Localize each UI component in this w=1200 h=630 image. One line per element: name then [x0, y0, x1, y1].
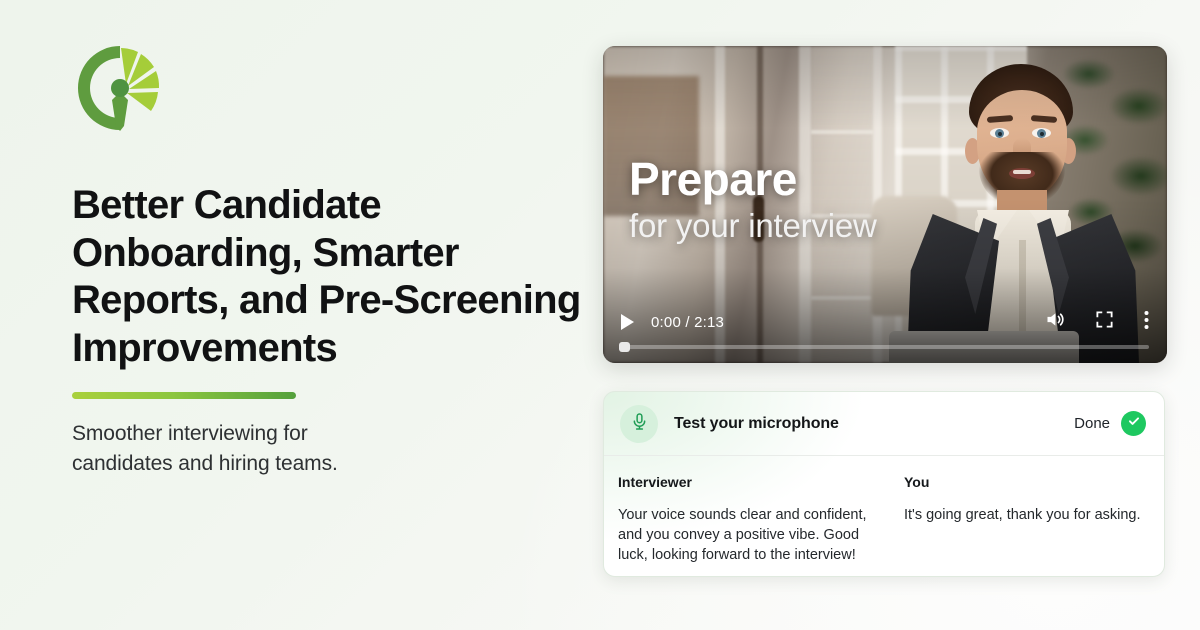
citrus-wheel-logo-icon: [72, 40, 168, 136]
microphone-card-header: Test your microphone Done: [604, 392, 1164, 456]
page-subtitle: Smoother interviewing for candidates and…: [72, 419, 402, 479]
microphone-icon: [630, 412, 649, 436]
fullscreen-icon: [1095, 310, 1114, 334]
volume-button[interactable]: [1044, 309, 1065, 335]
video-title-overlay: Prepare for your interview: [629, 156, 877, 246]
transcript-column-interviewer: Interviewer Your voice sounds clear and …: [618, 474, 890, 565]
play-icon: [621, 314, 634, 330]
more-options-button[interactable]: [1144, 310, 1149, 335]
left-content-column: Better Candidate Onboarding, Smarter Rep…: [72, 40, 582, 479]
accent-divider: [72, 392, 296, 399]
transcript-role: You: [904, 474, 1146, 490]
video-overlay-title: Prepare: [629, 156, 877, 202]
more-options-icon: [1144, 310, 1149, 335]
video-progress-bar[interactable]: [621, 345, 1149, 349]
transcript-message: It's going great, thank you for asking.: [904, 505, 1146, 525]
video-time-display: 0:00 / 2:13: [651, 314, 724, 331]
microphone-card-title: Test your microphone: [674, 415, 839, 433]
video-progress-handle[interactable]: [619, 342, 630, 352]
transcript-role: Interviewer: [618, 474, 890, 490]
brand-logo: [72, 40, 168, 136]
page-title: Better Candidate Onboarding, Smarter Rep…: [72, 182, 592, 372]
transcript-column-you: You It's going great, thank you for aski…: [904, 474, 1146, 565]
check-circle-icon: [1127, 414, 1141, 433]
play-button[interactable]: [621, 314, 634, 330]
video-player[interactable]: Prepare for your interview 0:00 / 2:13: [603, 46, 1167, 363]
right-content-column: Prepare for your interview 0:00 / 2:13: [603, 46, 1167, 363]
status-label: Done: [1074, 415, 1110, 432]
video-controls-bar: 0:00 / 2:13: [603, 301, 1167, 363]
video-overlay-subtitle: for your interview: [629, 206, 877, 246]
conversation-transcript: Interviewer Your voice sounds clear and …: [604, 456, 1164, 565]
hero-banner: Better Candidate Onboarding, Smarter Rep…: [0, 0, 1200, 630]
status-badge: [1121, 411, 1146, 436]
microphone-badge: [620, 405, 658, 443]
transcript-message: Your voice sounds clear and confident, a…: [618, 505, 890, 565]
fullscreen-button[interactable]: [1095, 310, 1114, 334]
microphone-test-card: Test your microphone Done Interviewer Yo…: [603, 391, 1165, 577]
volume-icon: [1044, 309, 1065, 335]
